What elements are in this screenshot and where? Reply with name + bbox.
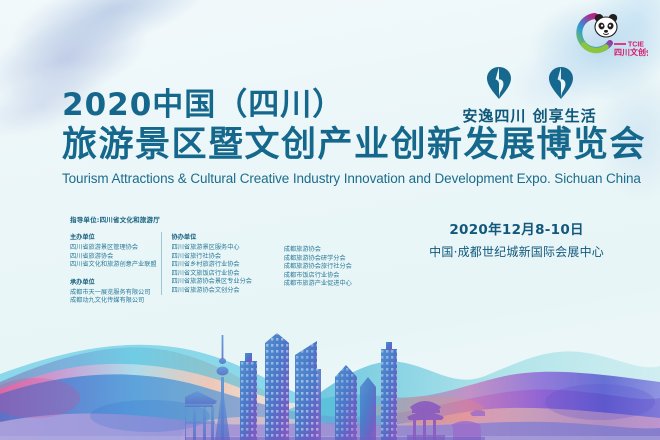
organizer-item: 成都旅游协会旅行社分会 bbox=[284, 263, 392, 272]
organizer-heading: 协办单位 bbox=[172, 232, 278, 241]
organizer-item: 四川省旅行社协会 bbox=[172, 253, 278, 262]
organizer-item: 四川省旅游景区服务中心 bbox=[172, 244, 278, 253]
organizer-item: 四川省旅游景区管理协会 bbox=[70, 244, 161, 253]
organizer-heading: 主办单位 bbox=[70, 232, 161, 241]
organizer-item: 四川省旅游协会 bbox=[70, 253, 161, 262]
slogan-block: 安逸四川 创享生活 bbox=[447, 66, 612, 126]
organizer-item: 成都市饭店行业协会 bbox=[284, 272, 392, 281]
organizer-item: 四川省旅游协会景区专业分会 bbox=[172, 278, 278, 287]
title-line-2: 旅游景区暨文创产业创新发展博览会 bbox=[62, 124, 610, 166]
event-venue: 中国·成都世纪城新国际会展中心 bbox=[429, 243, 604, 260]
location-pin-icon bbox=[486, 66, 512, 100]
organizer-item: 成都旅游协会 bbox=[284, 246, 392, 255]
slogan-pin-group bbox=[447, 66, 612, 100]
organizer-column-3: 成都旅游协会 成都旅游协会研学分会 成都旅游协会旅行社分会 成都市饭店行业协会 … bbox=[278, 232, 392, 289]
spacer bbox=[70, 270, 161, 277]
location-pin-icon bbox=[548, 66, 574, 100]
slogan-text: 安逸四川 创享生活 bbox=[447, 105, 612, 126]
organizer-item: 四川省乡村旅游行业协会 bbox=[172, 261, 278, 270]
event-date: 2020年12月8-10日 bbox=[429, 218, 604, 238]
tcie-panda-logo: TCIE 四川文创会 bbox=[562, 9, 648, 57]
event-date-venue: 2020年12月8-10日 中国·成都世纪城新国际会展中心 bbox=[429, 218, 604, 260]
logo-chinese: 四川文创会 bbox=[614, 47, 648, 57]
guidance-unit: 指导单位:四川省文化和旅游厅 bbox=[70, 214, 392, 224]
organizer-item: 四川省文旅饭店行业协会 bbox=[172, 270, 278, 279]
organizer-item: 成都市旅游产业促进中心 bbox=[284, 280, 392, 289]
organizer-item: 四川省文化和旅游创意产业联盟 bbox=[70, 261, 161, 270]
organizer-heading: 承办单位 bbox=[70, 277, 161, 286]
expo-poster: TCIE 四川文创会 2020中国（四川） 旅游景区暨文创产业创新发展博览会 T… bbox=[0, 0, 660, 440]
organizer-column-2: 协办单位 四川省旅游景区服务中心 四川省旅行社协会 四川省乡村旅游行业协会 四川… bbox=[161, 232, 278, 295]
chengdu-skyline-silhouette bbox=[185, 325, 485, 440]
organizer-item: 成都旅游协会研学分会 bbox=[284, 255, 392, 264]
title-english: Tourism Attractions & Cultural Creative … bbox=[62, 171, 610, 186]
